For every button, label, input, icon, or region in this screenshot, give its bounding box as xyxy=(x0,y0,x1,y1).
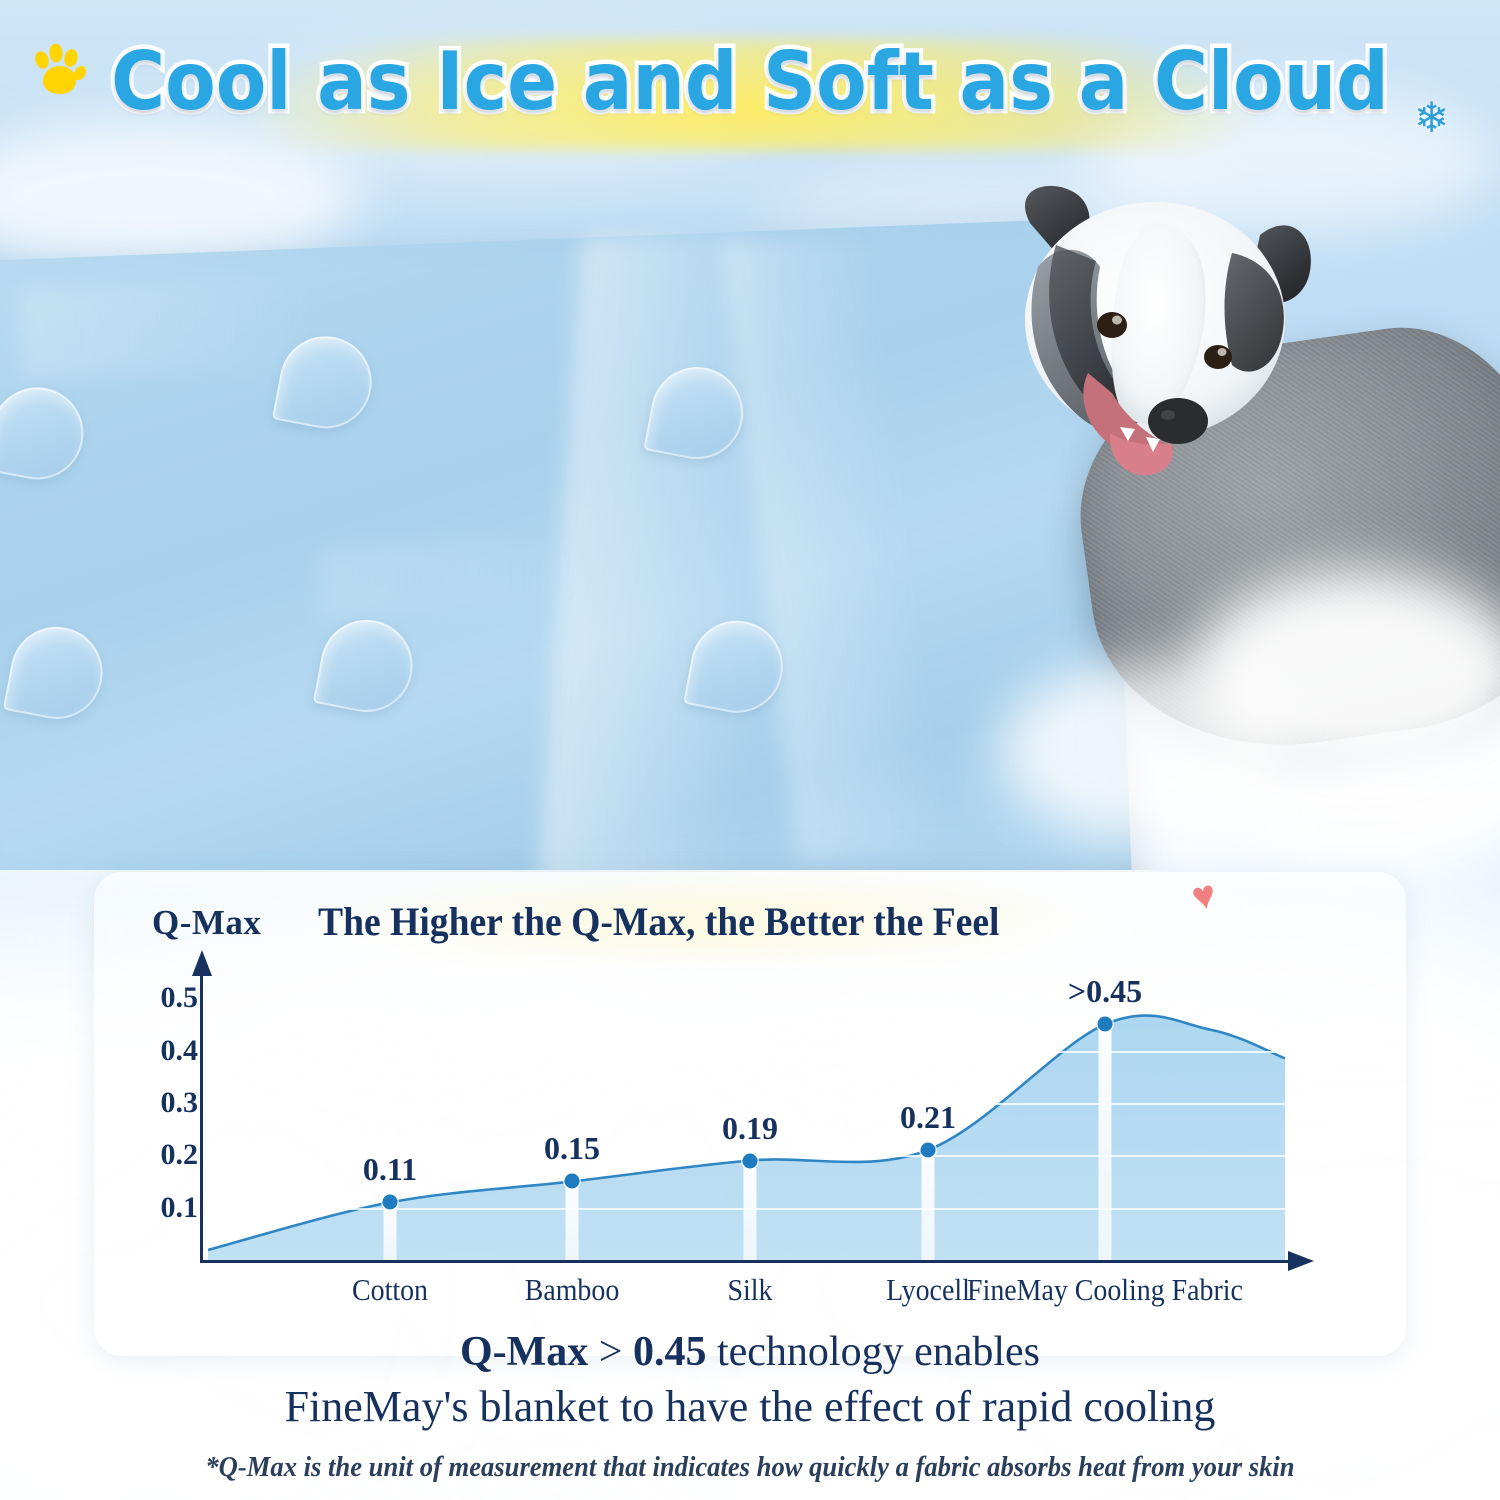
grid-line xyxy=(203,1051,1288,1053)
y-axis-tick-label: 0.5 xyxy=(161,981,199,1015)
data-point-marker-bar xyxy=(1099,1024,1112,1260)
x-axis-tick-label: Cotton xyxy=(352,1272,428,1308)
data-point-label: 0.11 xyxy=(363,1151,417,1188)
data-point xyxy=(383,1195,398,1210)
caption-qmax: Q-Max xyxy=(460,1329,588,1375)
x-axis-tick-label: Bamboo xyxy=(525,1272,620,1308)
data-point xyxy=(743,1153,758,1168)
data-point-label: 0.19 xyxy=(722,1110,778,1147)
page-title: Cool as Ice and Soft as a Cloud xyxy=(60,40,1440,124)
caption-value: 0.45 xyxy=(633,1329,707,1375)
product-photo xyxy=(0,140,1500,870)
y-axis-tick-label: 0.2 xyxy=(161,1138,199,1172)
data-point-marker-bar xyxy=(566,1181,579,1260)
data-point-marker-bar xyxy=(744,1161,757,1260)
snowflake-icon: ❄ xyxy=(1414,98,1449,140)
caption-line-1: Q-Max > 0.45 technology enables xyxy=(0,1328,1500,1376)
data-point xyxy=(921,1143,936,1158)
data-point-label: 0.21 xyxy=(900,1099,956,1136)
caption-gt: > xyxy=(588,1329,633,1375)
dog-photo xyxy=(960,175,1360,525)
y-axis-tick-label: 0.4 xyxy=(161,1034,199,1068)
chart-plot-area: 0.50.40.30.20.10.110.150.190.21>0.45 xyxy=(200,972,1310,1262)
y-axis-tick-label: 0.1 xyxy=(161,1191,199,1225)
data-point-label: 0.15 xyxy=(544,1130,600,1167)
ad-image: Cool as Ice and Soft as a Cloud ❄ xyxy=(0,0,1500,1500)
chart-title: The Higher the Q-Max, the Better the Fee… xyxy=(318,898,1000,945)
footnote: *Q-Max is the unit of measurement that i… xyxy=(38,1452,1463,1484)
data-point xyxy=(1098,1017,1113,1032)
y-axis-title: Q-Max xyxy=(152,903,261,943)
grid-line xyxy=(203,1103,1288,1105)
data-point-marker-bar xyxy=(384,1202,397,1260)
x-axis-tick-label: Lyocell xyxy=(886,1272,970,1308)
data-point xyxy=(565,1174,580,1189)
y-axis-tick-label: 0.3 xyxy=(161,1086,199,1120)
data-point-marker-bar xyxy=(922,1150,935,1260)
x-axis-tick-label: Silk xyxy=(728,1272,773,1308)
caption-rest: technology enables xyxy=(706,1329,1040,1375)
data-point-label: >0.45 xyxy=(1068,973,1142,1010)
x-axis-tick-label: FineMay Cooling Fabric xyxy=(967,1272,1243,1308)
caption-line-2: FineMay's blanket to have the effect of … xyxy=(0,1381,1500,1432)
